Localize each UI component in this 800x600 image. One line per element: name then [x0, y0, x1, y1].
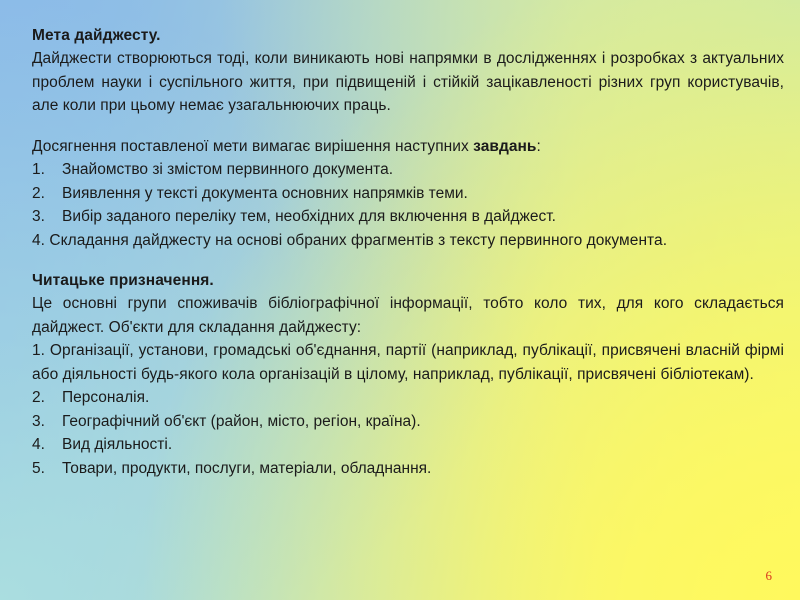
list-item-label: Вибір заданого переліку тем, необхідних … — [62, 205, 784, 229]
list-item-number: 5. — [32, 457, 62, 481]
list-item-label: Виявлення у тексті документа основних на… — [62, 182, 784, 206]
list-item-number: 3. — [32, 410, 62, 434]
list-item: 5. Товари, продукти, послуги, матеріали,… — [32, 457, 784, 481]
section-audience-heading: Читацьке призначення. — [32, 269, 784, 292]
section-tasks-lead-in-suffix: : — [537, 138, 541, 155]
section-purpose: Мета дайджесту. Дайджести створюються то… — [32, 24, 784, 118]
list-item-number: 2. — [32, 386, 62, 410]
slide-content: Мета дайджесту. Дайджести створюються то… — [32, 24, 784, 484]
section-tasks-lead-in-emphasis: завдань — [473, 138, 536, 155]
section-tasks-lead-in: Досягнення поставленої мети вимагає вирі… — [32, 135, 784, 159]
section-tasks-item-four: 4. Складання дайджесту на основі обраних… — [32, 229, 784, 253]
section-tasks: Досягнення поставленої мети вимагає вирі… — [32, 135, 784, 253]
list-item-number: 1. — [32, 158, 62, 182]
list-item: 1. Знайомство зі змістом первинного доку… — [32, 158, 784, 182]
list-item-label: Товари, продукти, послуги, матеріали, об… — [62, 457, 784, 481]
list-item: 3. Вибір заданого переліку тем, необхідн… — [32, 205, 784, 229]
section-audience-list: 2. Персоналія. 3. Географічний об'єкт (р… — [32, 386, 784, 480]
section-audience-paragraph: Це основні групи споживачів бібліографіч… — [32, 292, 784, 339]
section-tasks-lead-in-prefix: Досягнення поставленої мети вимагає вирі… — [32, 138, 473, 155]
section-audience-item-one: 1. Організації, установи, громадські об'… — [32, 339, 784, 386]
section-tasks-list: 1. Знайомство зі змістом первинного доку… — [32, 158, 784, 229]
list-item-number: 4. — [32, 433, 62, 457]
list-item: 3. Географічний об'єкт (район, місто, ре… — [32, 410, 784, 434]
list-item-label: Знайомство зі змістом первинного докумен… — [62, 158, 784, 182]
section-audience: Читацьке призначення. Це основні групи с… — [32, 269, 784, 480]
section-purpose-heading: Мета дайджесту. — [32, 24, 784, 47]
list-item: 2. Персоналія. — [32, 386, 784, 410]
spacer-after-purpose — [32, 122, 784, 135]
list-item-label: Вид діяльності. — [62, 433, 784, 457]
page-number: 6 — [766, 569, 773, 582]
list-item-number: 2. — [32, 182, 62, 206]
list-item-number: 3. — [32, 205, 62, 229]
list-item-label: Географічний об'єкт (район, місто, регіо… — [62, 410, 784, 434]
section-purpose-paragraph: Дайджести створюються тоді, коли виникаю… — [32, 47, 784, 118]
presentation-slide: Мета дайджесту. Дайджести створюються то… — [0, 0, 800, 600]
spacer-after-tasks — [32, 256, 784, 269]
list-item-label: Персоналія. — [62, 386, 784, 410]
list-item: 4. Вид діяльності. — [32, 433, 784, 457]
list-item: 2. Виявлення у тексті документа основних… — [32, 182, 784, 206]
